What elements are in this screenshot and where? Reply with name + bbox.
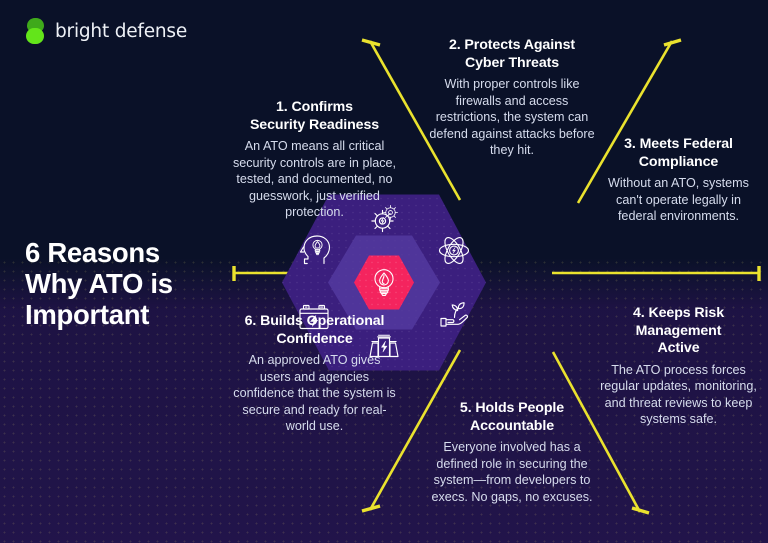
reason-2-heading-line-1: 2. Protects Against (449, 37, 575, 53)
reason-6-body: An approved ATO gives users and agencies… (232, 352, 397, 435)
brand-name: bright defense (55, 21, 187, 42)
reason-4-heading-line-1: 4. Keeps Risk (633, 305, 724, 321)
reason-5-body: Everyone involved has a defined role in … (424, 439, 600, 505)
ray-lower-right-cap (632, 508, 649, 513)
ray-lower-left-cap (362, 506, 380, 511)
reason-4-heading-line-2: Management (636, 323, 722, 339)
reason-2-heading: 2. Protects Against Cyber Threats (424, 37, 600, 72)
reason-card-6: 6. Builds Operational Confidence An appr… (232, 313, 397, 435)
reason-6-heading-line-1: 6. Builds Operational (245, 313, 385, 329)
reason-card-3: 3. Meets Federal Compliance Without an A… (597, 136, 760, 225)
reason-1-heading: 1. Confirms Security Readiness (232, 99, 397, 134)
reason-2-heading-line-2: Cyber Threats (465, 55, 559, 71)
bright-defense-logo-mark (26, 18, 46, 44)
infographic-canvas: bright defense 6 Reasons Why ATO is Impo… (0, 0, 768, 543)
page-title-line-1: 6 Reasons (25, 237, 240, 268)
reason-4-heading-line-3: Active (658, 340, 700, 356)
reason-3-heading: 3. Meets Federal Compliance (597, 136, 760, 171)
reason-1-heading-line-2: Security Readiness (250, 117, 379, 133)
reason-3-heading-line-1: 3. Meets Federal (624, 136, 733, 152)
reason-card-5: 5. Holds People Accountable Everyone inv… (424, 400, 600, 505)
reason-3-body: Without an ATO, systems can't operate le… (597, 175, 760, 225)
reason-card-2: 2. Protects Against Cyber Threats With p… (424, 37, 600, 159)
reason-6-heading: 6. Builds Operational Confidence (232, 313, 397, 348)
reason-3-heading-line-2: Compliance (639, 154, 718, 170)
ray-upper-left-cap (362, 40, 380, 45)
page-title-line-3: Important (25, 299, 240, 330)
reason-card-1: 1. Confirms Security Readiness An ATO me… (232, 99, 397, 221)
ray-upper-right-cap (664, 40, 681, 45)
reason-5-heading: 5. Holds People Accountable (424, 400, 600, 435)
reason-4-body: The ATO process forces regular updates, … (597, 362, 760, 428)
reason-5-heading-line-2: Accountable (470, 418, 554, 434)
reason-4-heading: 4. Keeps Risk Management Active (597, 305, 760, 358)
reason-1-body: An ATO means all critical security contr… (232, 138, 397, 221)
reason-5-heading-line-1: 5. Holds People (460, 400, 564, 416)
brand-logo[interactable]: bright defense (26, 18, 187, 44)
reason-2-body: With proper controls like firewalls and … (424, 76, 600, 159)
page-title: 6 Reasons Why ATO is Important (25, 237, 240, 330)
page-title-line-2: Why ATO is (25, 268, 240, 299)
reason-1-heading-line-1: 1. Confirms (276, 99, 353, 115)
reason-6-heading-line-2: Confidence (276, 331, 352, 347)
reason-card-4: 4. Keeps Risk Management Active The ATO … (597, 305, 760, 428)
